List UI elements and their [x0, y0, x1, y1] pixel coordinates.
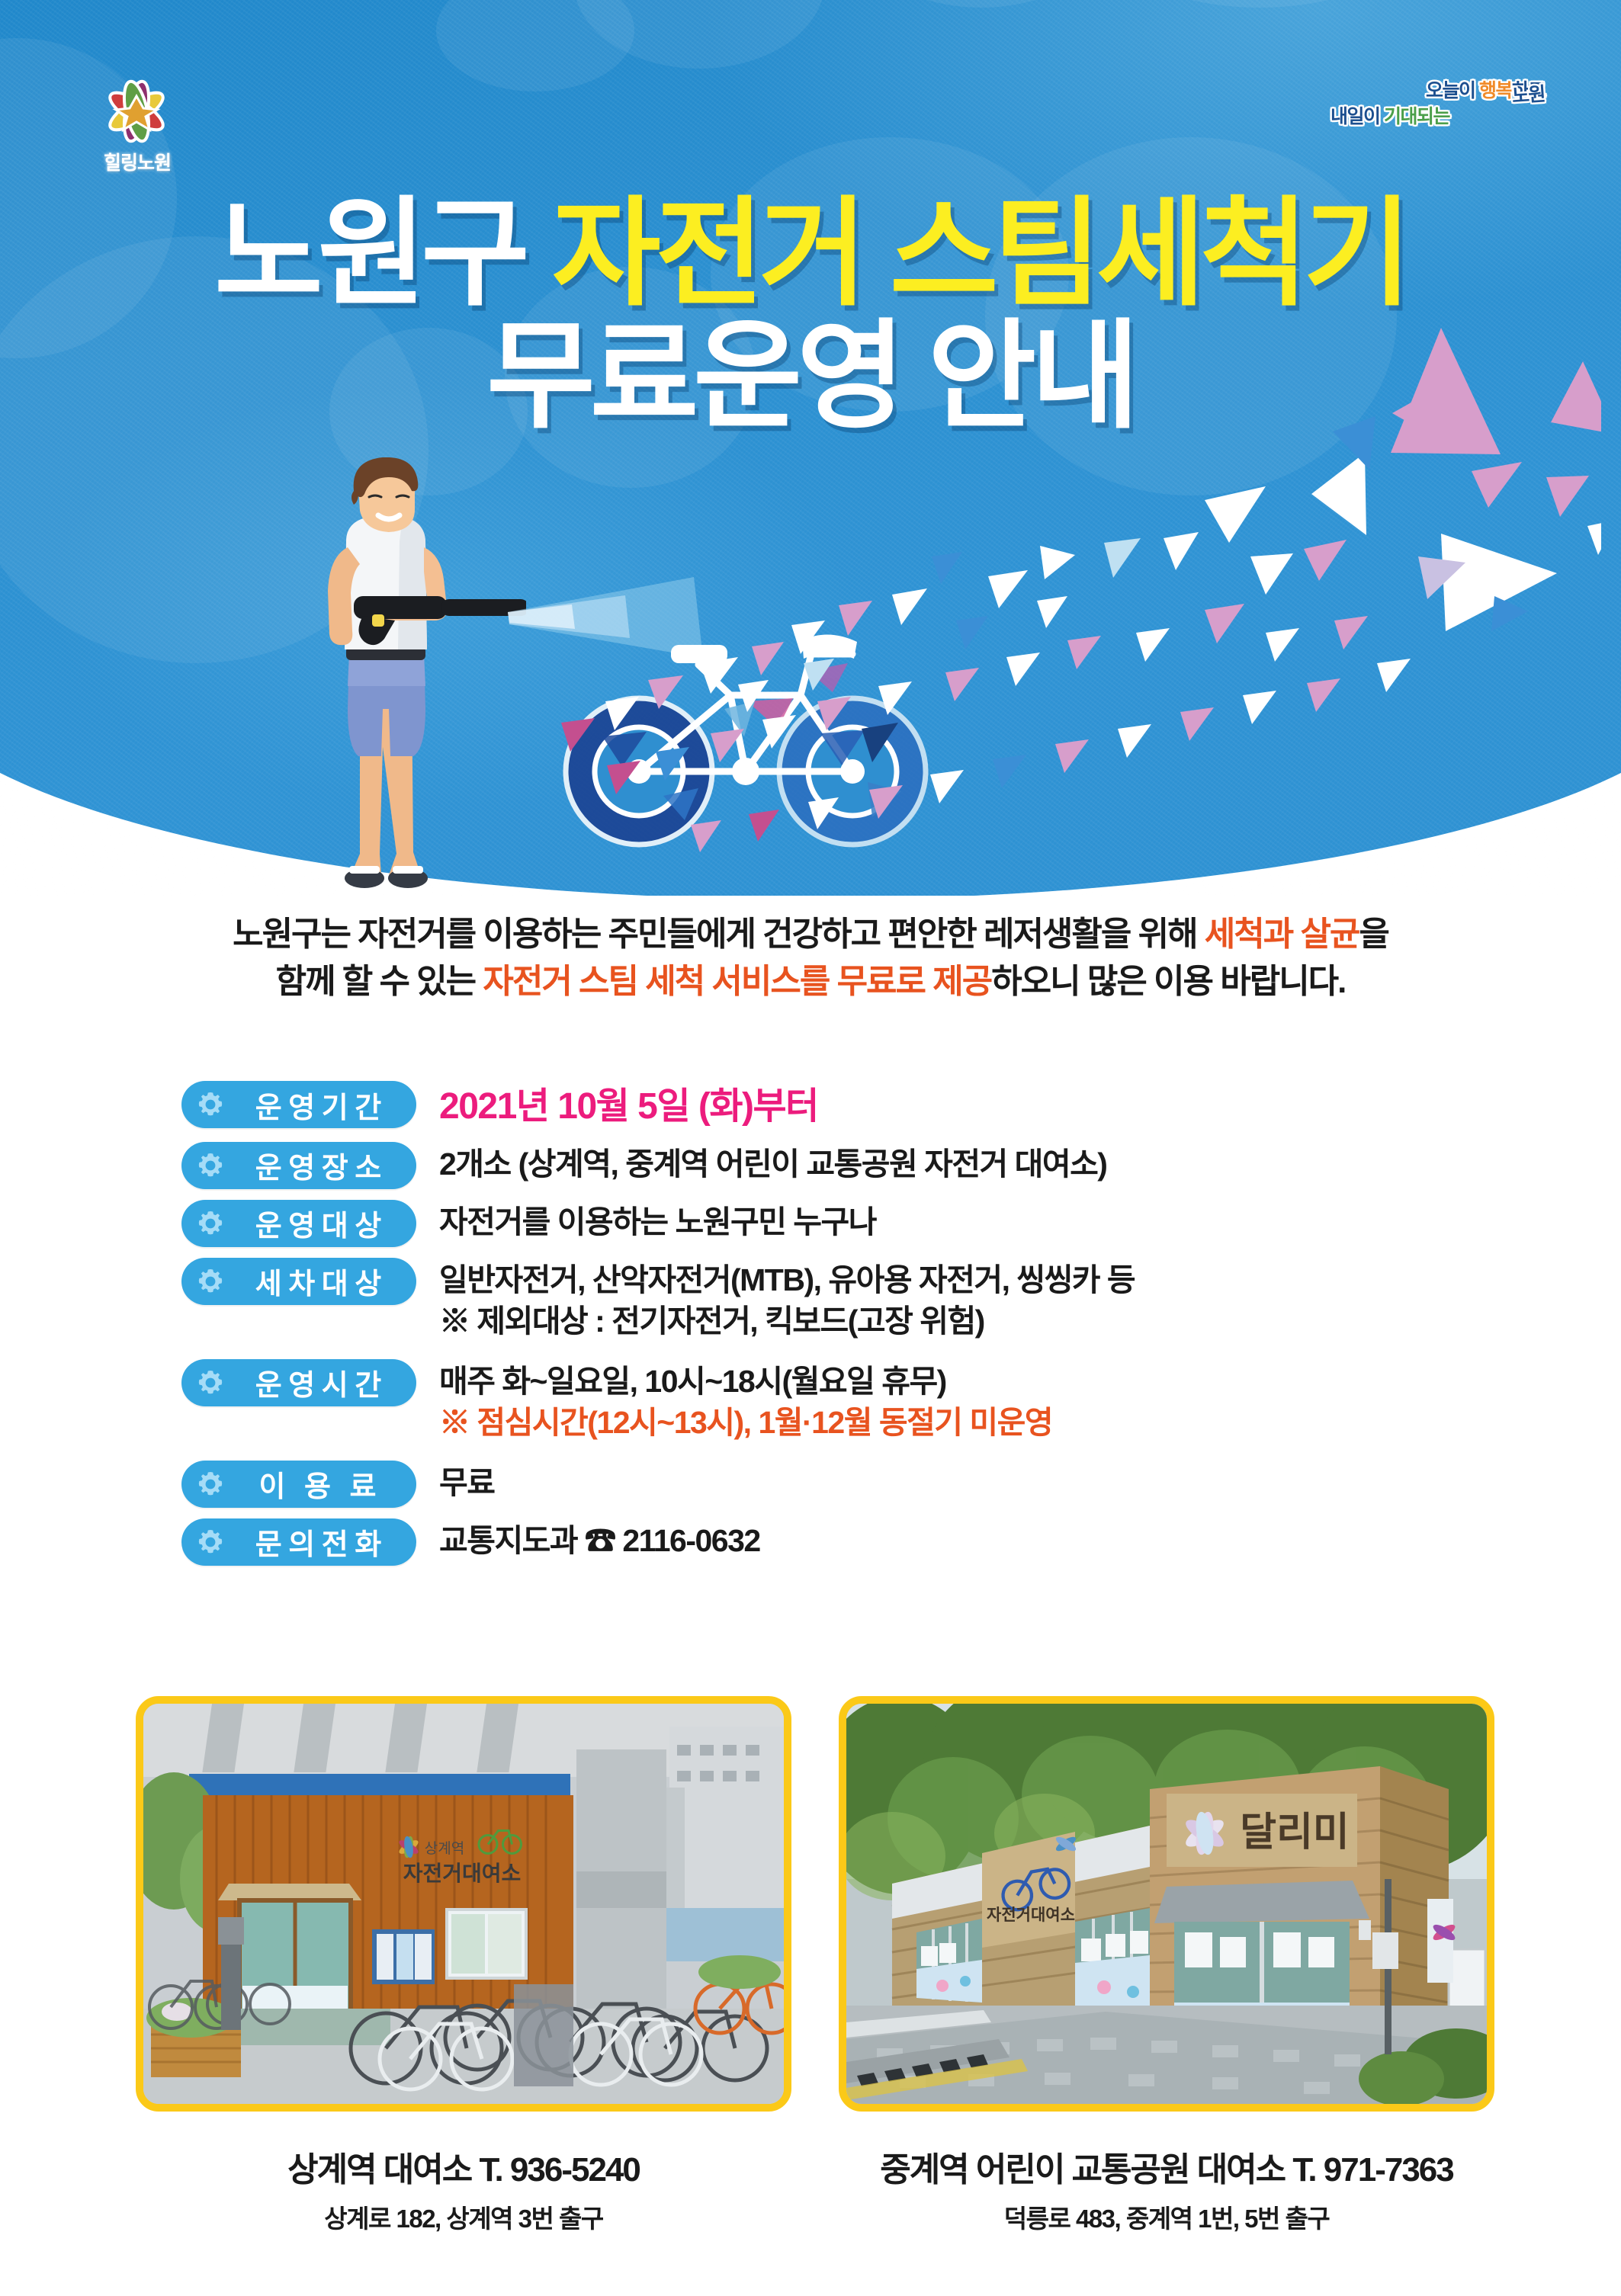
slogan-text-d: 내일이	[1331, 106, 1384, 127]
logo-left-label: 힐링노원	[84, 148, 191, 175]
pill-label-text: 운 영 장 소	[230, 1144, 416, 1186]
info-value-text: 무료	[439, 1462, 1478, 1504]
info-row-contact: 문 의 전 화 교통지도과 ☎ 2116-0632	[181, 1518, 1478, 1566]
label-pill-target-users: 운 영 대 상	[181, 1200, 416, 1247]
info-value-hours-note: ※ 점심시간(12시~13시), 1월·12월 동절기 미운영	[439, 1402, 1478, 1444]
info-row-operating-hours: 운 영 시 간 매주 화~일요일, 10시~18시(월요일 휴무) ※ 점심시간…	[181, 1359, 1478, 1444]
label-pill-operating-hours: 운 영 시 간	[181, 1359, 416, 1406]
info-value-text: 2개소 (상계역, 중계역 어린이 교통공원 자전거 대여소)	[439, 1143, 1478, 1185]
info-value-text: 교통지도과 ☎ 2116-0632	[439, 1520, 1478, 1562]
photo-sanggye: 상계역 자전거대여소	[143, 1704, 784, 2104]
info-list: 운 영 기 간 2021년 10월 5일 (화)부터 운 영 장 소 2개소 (…	[181, 1081, 1478, 1576]
gear-icon	[195, 1150, 226, 1181]
pill-label-text: 운 영 기 간	[230, 1084, 416, 1126]
title-yellow-part: 자전거 스팀세척기	[552, 188, 1407, 319]
info-value-text: 자전거를 이용하는 노원구민 누구나	[439, 1201, 1478, 1243]
junggye-traffic-park-rental-photo: 달리미	[839, 1696, 1494, 2112]
intro-highlight-2: 자전거 스팀 세척 서비스를 무료로 제공	[483, 963, 991, 1000]
info-row-target-users: 운 영 대 상 자전거를 이용하는 노원구민 누구나	[181, 1200, 1478, 1247]
svg-text:자전거대여소: 자전거대여소	[987, 1906, 1075, 1924]
slogan-text-happy: 행복	[1479, 80, 1512, 101]
info-value-washable-items: 일반자전거, 산악자전거(MTB), 유아용 자전거, 씽씽카 등 ※ 제외대상…	[416, 1258, 1478, 1342]
intro-line-1: 노원구는 자전거를 이용하는 주민들에게 건강하고 편안한 레저생활을 위해 세…	[0, 911, 1621, 958]
intro-text-d: 함께 할 수 있는	[276, 963, 483, 1000]
svg-text:자전거대여소: 자전거대여소	[403, 1861, 522, 1885]
gear-icon	[195, 1208, 226, 1239]
intro-text-a: 노원구는 자전거를 이용하는 주민들에게 건강하고 편안한 레저생활을 위해	[233, 916, 1205, 953]
label-pill-washable-items: 세 차 대 상	[181, 1258, 416, 1305]
intro-highlight-1: 세척과 살균	[1205, 916, 1359, 953]
intro-text-f: 하오니 많은 이용 바랍니다.	[991, 963, 1345, 1000]
caption-main-text: 상계역 대여소 T. 936-5240	[136, 2142, 791, 2191]
gear-icon	[195, 1469, 226, 1499]
nowon-slogan: 오늘이 행복하고 노원 내일이 기대되는	[1293, 80, 1545, 152]
info-value-text: 일반자전거, 산악자전거(MTB), 유아용 자전거, 씽씽카 등	[439, 1259, 1478, 1301]
slogan-text-a: 오늘이	[1426, 80, 1479, 101]
info-value-contact: 교통지도과 ☎ 2116-0632	[416, 1518, 1478, 1562]
slogan-line-1: 오늘이 행복하고 노원	[1293, 80, 1545, 101]
intro-paragraph: 노원구는 자전거를 이용하는 주민들에게 건강하고 편안한 레저생활을 위해 세…	[0, 911, 1621, 1006]
intro-text-c: 을	[1359, 916, 1388, 953]
caption-sub-text: 상계로 182, 상계역 3번 출구	[136, 2198, 791, 2235]
caption-main-text: 중계역 어린이 교통공원 대여소 T. 971-7363	[839, 2142, 1494, 2191]
title-white-part: 노원구	[214, 188, 525, 319]
info-value-target-users: 자전거를 이용하는 노원구민 누구나	[416, 1200, 1478, 1243]
info-row-fee: 이 용 료 무료	[181, 1461, 1478, 1508]
pill-label-text: 세 차 대 상	[230, 1260, 416, 1302]
hero-banner: 힐링노원 오늘이 행복하고 노원 내일이 기대되는 노원구 자전거 스팀세척기 …	[0, 0, 1621, 896]
svg-text:상계역: 상계역	[425, 1840, 464, 1857]
pill-label-text: 운 영 시 간	[230, 1361, 416, 1403]
title-line-1: 노원구 자전거 스팀세척기	[0, 194, 1621, 313]
info-value-operating-hours: 매주 화~일요일, 10시~18시(월요일 휴무) ※ 점심시간(12시~13시…	[416, 1359, 1478, 1444]
info-row-washable-items: 세 차 대 상 일반자전거, 산악자전거(MTB), 유아용 자전거, 씽씽카 …	[181, 1258, 1478, 1342]
caption-junggye: 중계역 어린이 교통공원 대여소 T. 971-7363 덕릉로 483, 중계…	[839, 2142, 1494, 2235]
label-pill-fee: 이 용 료	[181, 1461, 416, 1508]
particle-burst	[534, 305, 1601, 869]
slogan-text-expect: 기대되는	[1384, 106, 1449, 127]
gear-icon	[195, 1527, 226, 1557]
gear-icon	[195, 1368, 226, 1398]
pressure-washer-gun	[354, 596, 526, 645]
person-washing-illustration	[274, 457, 526, 892]
info-value-text: 매주 화~일요일, 10시~18시(월요일 휴무)	[439, 1361, 1478, 1403]
pinwheel-icon	[95, 76, 178, 146]
info-row-operating-period: 운 영 기 간 2021년 10월 5일 (화)부터	[181, 1081, 1478, 1131]
caption-sanggye: 상계역 대여소 T. 936-5240 상계로 182, 상계역 3번 출구	[136, 2142, 791, 2235]
slogan-line-2: 내일이 기대되는	[1293, 106, 1545, 127]
info-row-location: 운 영 장 소 2개소 (상계역, 중계역 어린이 교통공원 자전거 대여소)	[181, 1142, 1478, 1189]
info-value-exclusions: ※ 제외대상 : 전기자전거, 킥보드(고장 위험)	[439, 1300, 1478, 1342]
pill-label-text: 운 영 대 상	[230, 1202, 416, 1244]
info-value-fee: 무료	[416, 1461, 1478, 1504]
intro-line-2: 함께 할 수 있는 자전거 스팀 세척 서비스를 무료로 제공하오니 많은 이용…	[0, 958, 1621, 1005]
info-value-location: 2개소 (상계역, 중계역 어린이 교통공원 자전거 대여소)	[416, 1142, 1478, 1185]
gear-icon	[195, 1266, 226, 1297]
label-pill-location: 운 영 장 소	[181, 1142, 416, 1189]
pill-label-text: 이 용 료	[230, 1463, 416, 1505]
info-value-operating-period: 2021년 10월 5일 (화)부터	[416, 1081, 1478, 1131]
gear-icon	[195, 1089, 226, 1120]
label-pill-contact: 문 의 전 화	[181, 1518, 416, 1566]
pill-label-text: 문 의 전 화	[230, 1521, 416, 1563]
slogan-brand: 노원	[1511, 84, 1546, 107]
sanggye-station-rental-photo: 상계역 자전거대여소	[136, 1696, 791, 2112]
label-pill-operating-period: 운 영 기 간	[181, 1081, 416, 1128]
info-value-text: 2021년 10월 5일 (화)부터	[439, 1082, 1478, 1131]
caption-sub-text: 덕릉로 483, 중계역 1번, 5번 출구	[839, 2198, 1494, 2235]
svg-text:달리미: 달리미	[1240, 1810, 1350, 1855]
healing-nowon-logo: 힐링노원	[84, 76, 191, 175]
photo-junggye: 달리미	[846, 1704, 1487, 2104]
